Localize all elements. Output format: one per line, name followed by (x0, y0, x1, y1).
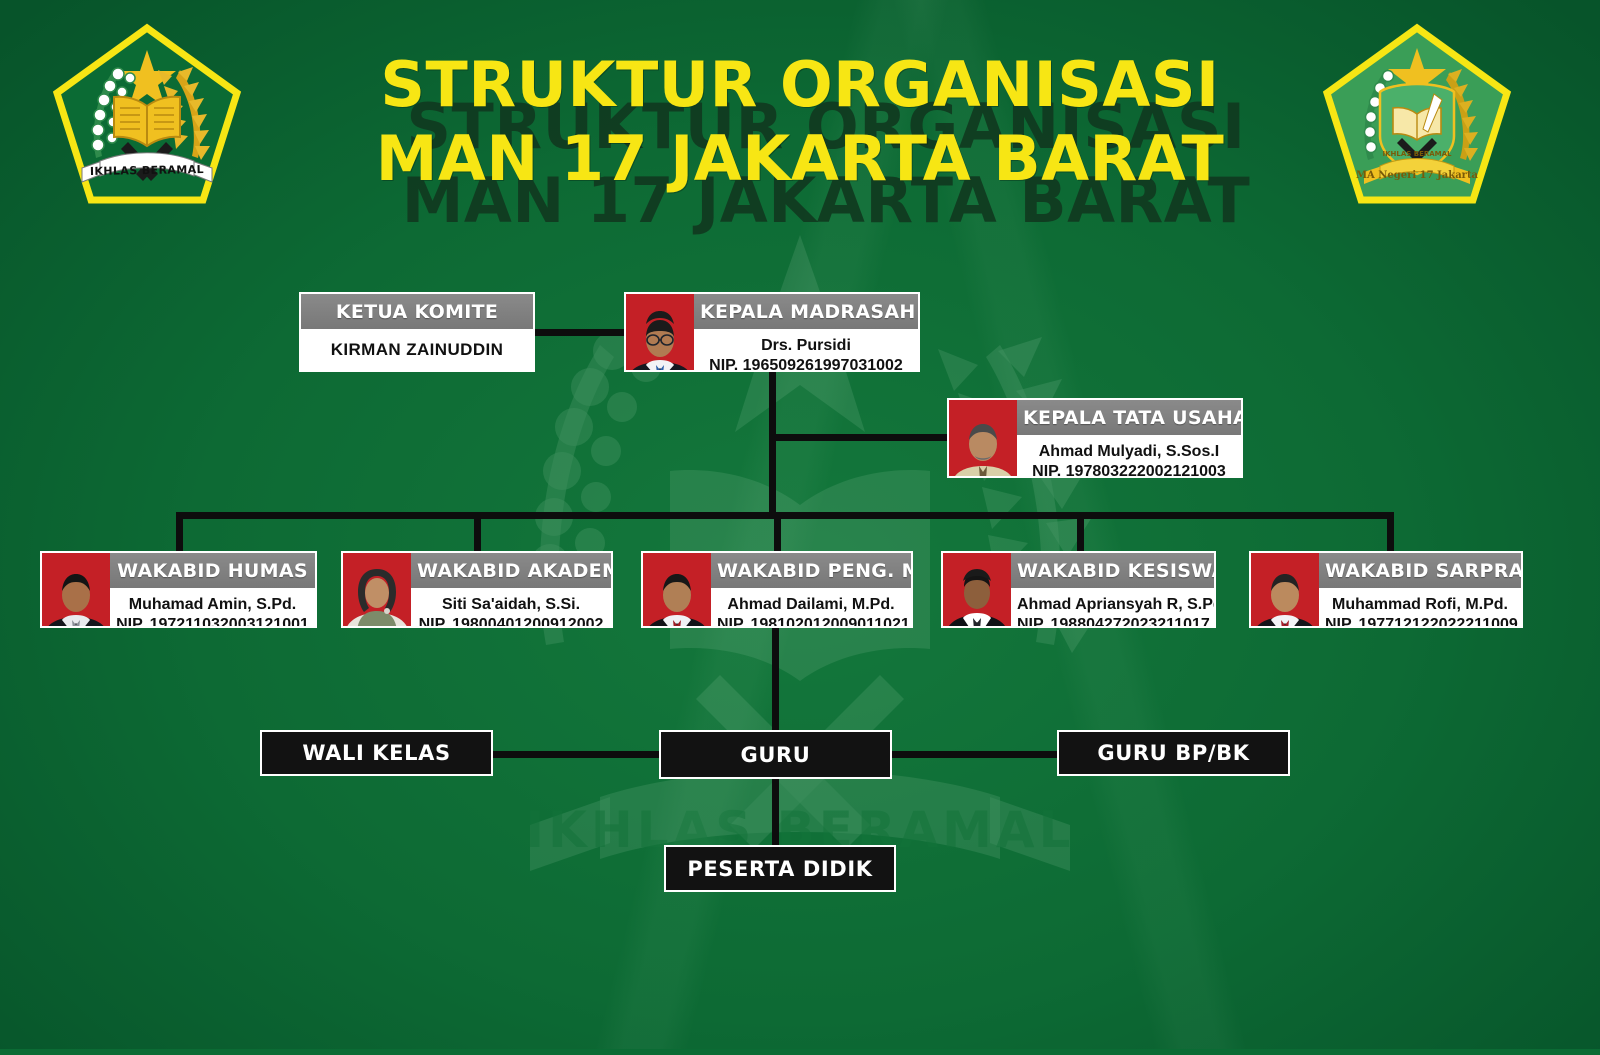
node-body: WAKABID HUMAS Muhamad Amin, S.Pd. NIP. 1… (110, 553, 315, 626)
node-person-name: Ahmad Dailami, M.Pd. (717, 595, 905, 615)
connector-komite-kepala (533, 329, 626, 336)
node-info: Drs. Pursidi NIP. 196509261997031002 (694, 331, 918, 372)
connector-guru-peserta (772, 777, 779, 849)
connector-spine-guru (772, 628, 779, 732)
node-ketua-komite[interactable]: KETUA KOMITE KIRMAN ZAINUDDIN (299, 292, 535, 372)
node-wakabid-humas[interactable]: WAKABID HUMAS Muhamad Amin, S.Pd. NIP. 1… (40, 551, 317, 628)
node-body: WAKABID PENG. MUTU Ahmad Dailami, M.Pd. … (711, 553, 911, 626)
node-role: KEPALA TATA USAHA (1017, 400, 1241, 437)
node-guru[interactable]: GURU (659, 730, 892, 779)
node-info: Ahmad Dailami, M.Pd. NIP. 19810201200901… (711, 590, 911, 628)
node-guru-bp-bk[interactable]: GURU BP/BK (1057, 730, 1290, 776)
node-wali-kelas[interactable]: WALI KELAS (260, 730, 493, 776)
node-person-name: Siti Sa'aidah, S.Si. (417, 595, 605, 615)
node-person-name: Ahmad Mulyadi, S.Sos.I (1023, 442, 1235, 462)
node-info: Siti Sa'aidah, S.Si. NIP. 19800401200912… (411, 590, 611, 628)
node-role: WAKABID AKADEMIK (411, 553, 611, 590)
node-peserta-didik[interactable]: PESERTA DIDIK (664, 845, 896, 892)
connector-wakabid-bus (176, 512, 1387, 519)
node-label: GURU (741, 743, 811, 767)
node-nip: NIP. 197712122022211009 (1325, 615, 1515, 628)
node-nip: NIP. 198804272023211017 (1017, 615, 1208, 628)
org-chart: KETUA KOMITE KIRMAN ZAINUDDIN (0, 0, 1600, 1049)
node-nip: NIP. 198102012009011021 (717, 615, 905, 628)
node-body: WAKABID KESISWAAN Ahmad Apriansyah R, S.… (1011, 553, 1214, 626)
connector-drop-mutu (774, 512, 781, 553)
node-info: Muhammad Rofi, M.Pd. NIP. 19771212202221… (1319, 590, 1521, 628)
node-role: WAKABID PENG. MUTU (711, 553, 911, 590)
node-wakabid-kesiswaan[interactable]: WAKABID KESISWAAN Ahmad Apriansyah R, S.… (941, 551, 1216, 628)
connector-drop-humas (176, 512, 183, 553)
node-body: WAKABID SARPRAS Muhammad Rofi, M.Pd. NIP… (1319, 553, 1521, 626)
node-person-name: KIRMAN ZAINUDDIN (307, 340, 527, 360)
portrait-photo (42, 553, 110, 626)
connector-kepala-spine (769, 372, 776, 515)
node-info: Ahmad Apriansyah R, S.Pd.I NIP. 19880427… (1011, 590, 1214, 628)
portrait-photo (643, 553, 711, 626)
portrait-photo (626, 294, 694, 370)
node-wakabid-sarpras[interactable]: WAKABID SARPRAS Muhammad Rofi, M.Pd. NIP… (1249, 551, 1523, 628)
connector-drop-akademik (474, 512, 481, 553)
connector-kepala-tatausaha (769, 434, 951, 441)
node-body: KETUA KOMITE KIRMAN ZAINUDDIN (301, 294, 533, 370)
node-body: KEPALA MADRASAH Drs. Pursidi NIP. 196509… (694, 294, 918, 370)
node-nip: NIP. 197803222002121003 (1023, 462, 1235, 478)
node-label: GURU BP/BK (1097, 741, 1249, 765)
connector-drop-kesiswaan (1077, 512, 1084, 553)
node-wakabid-peng-mutu[interactable]: WAKABID PENG. MUTU Ahmad Dailami, M.Pd. … (641, 551, 913, 628)
portrait-photo (1251, 553, 1319, 626)
portrait-photo (943, 553, 1011, 626)
node-role: KETUA KOMITE (301, 294, 533, 331)
node-nip: NIP. 197211032003121001 (116, 615, 309, 628)
node-nip: NIP. 196509261997031002 (700, 356, 912, 372)
node-kepala-tata-usaha[interactable]: KEPALA TATA USAHA Ahmad Mulyadi, S.Sos.I… (947, 398, 1243, 478)
node-kepala-madrasah[interactable]: KEPALA MADRASAH Drs. Pursidi NIP. 196509… (624, 292, 920, 372)
node-person-name: Ahmad Apriansyah R, S.Pd.I (1017, 595, 1208, 615)
node-role: WAKABID HUMAS (110, 553, 315, 590)
node-info: KIRMAN ZAINUDDIN (301, 331, 533, 370)
portrait-photo (949, 400, 1017, 476)
connector-guru-bk (889, 751, 1061, 758)
node-role: KEPALA MADRASAH (694, 294, 918, 331)
node-info: Muhamad Amin, S.Pd. NIP. 197211032003121… (110, 590, 315, 628)
node-label: WALI KELAS (302, 741, 450, 765)
node-label: PESERTA DIDIK (687, 857, 872, 881)
node-person-name: Drs. Pursidi (700, 336, 912, 356)
node-role: WAKABID SARPRAS (1319, 553, 1521, 590)
connector-drop-sarpras (1387, 512, 1394, 553)
node-person-name: Muhamad Amin, S.Pd. (116, 595, 309, 615)
connector-guru-wali (480, 751, 662, 758)
node-role: WAKABID KESISWAAN (1011, 553, 1214, 590)
node-body: KEPALA TATA USAHA Ahmad Mulyadi, S.Sos.I… (1017, 400, 1241, 476)
node-nip: NIP. 19800401200912002 (417, 615, 605, 628)
portrait-photo (343, 553, 411, 626)
node-info: Ahmad Mulyadi, S.Sos.I NIP. 197803222002… (1017, 437, 1241, 478)
node-person-name: Muhammad Rofi, M.Pd. (1325, 595, 1515, 615)
node-body: WAKABID AKADEMIK Siti Sa'aidah, S.Si. NI… (411, 553, 611, 626)
node-wakabid-akademik[interactable]: WAKABID AKADEMIK Siti Sa'aidah, S.Si. NI… (341, 551, 613, 628)
